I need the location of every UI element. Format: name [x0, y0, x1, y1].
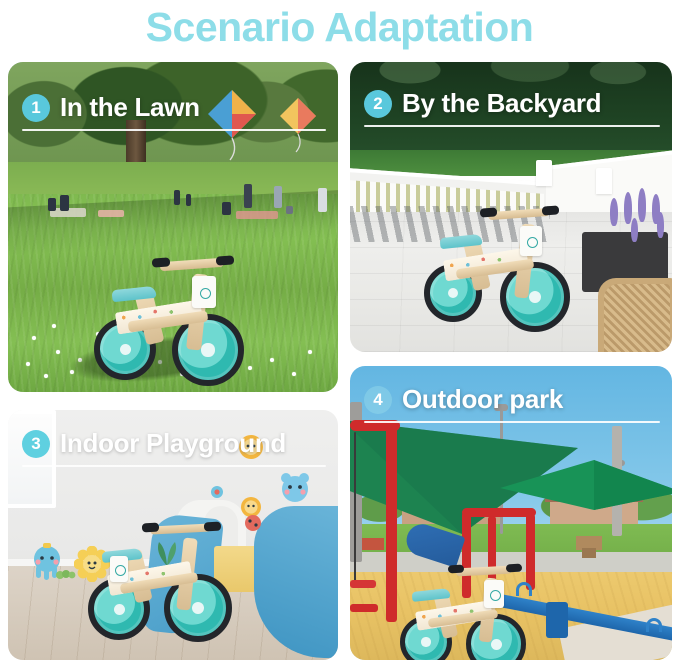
kite-icon	[278, 96, 324, 154]
scene-image-backyard	[350, 62, 672, 352]
balance-bike	[424, 206, 584, 340]
scenario-panel-indoor[interactable]: 3 Indoor Playground	[8, 410, 338, 660]
page-title: Scenario Adaptation	[0, 0, 679, 56]
scenario-panel-backyard[interactable]: 2 By the Backyard	[350, 62, 672, 352]
balance-bike	[400, 564, 550, 660]
balance-bike	[88, 522, 248, 648]
kite-icon	[206, 88, 266, 162]
scene-image-outdoor-park	[350, 366, 672, 660]
scene-image-indoor	[8, 410, 338, 660]
small-sticker-icon	[210, 484, 224, 504]
scene-image-lawn	[8, 62, 338, 392]
lion-sticker-icon	[238, 434, 264, 460]
balance-bike	[94, 254, 254, 388]
scenario-panel-lawn[interactable]: 1 In the Lawn	[8, 62, 338, 392]
scenario-panel-outdoor-park[interactable]: 4 Outdoor park	[350, 366, 672, 660]
bear-sticker-icon	[278, 470, 312, 504]
caterpillar-sticker-icon	[56, 568, 76, 580]
